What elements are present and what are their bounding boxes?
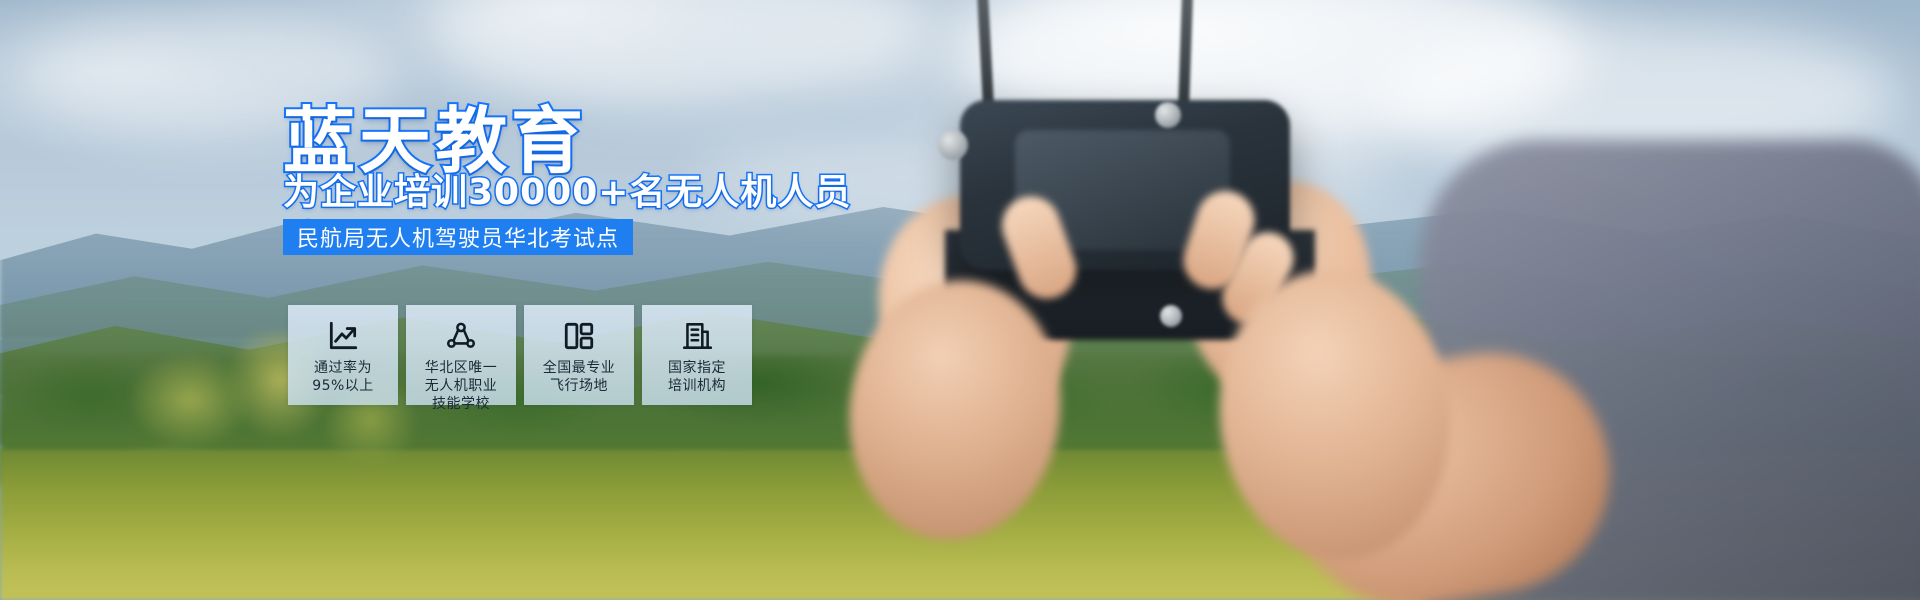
feature-card-text: 国家指定 培训机构 — [668, 359, 726, 395]
building-institution-icon — [680, 319, 714, 353]
trending-up-chart-icon — [326, 319, 360, 353]
feature-card-state-approved[interactable]: 国家指定 培训机构 — [642, 305, 752, 405]
feature-card-text: 华北区唯一 无人机职业 技能学校 — [425, 359, 498, 413]
certification-badge: 民航局无人机驾驶员华北考试点 — [283, 219, 633, 255]
hero-banner: 蓝天教育 为企业培训30000+名无人机人员 民航局无人机驾驶员华北考试点 通过… — [0, 0, 1920, 600]
feature-card-line: 全国最专业 — [543, 359, 616, 377]
feature-card-line: 华北区唯一 — [425, 359, 498, 377]
feature-card-line: 无人机职业 — [425, 377, 498, 395]
feature-card-pass-rate[interactable]: 通过率为 95%以上 — [288, 305, 398, 405]
feature-card-line: 飞行场地 — [543, 377, 616, 395]
banner-content: 蓝天教育 为企业培训30000+名无人机人员 民航局无人机驾驶员华北考试点 通过… — [0, 0, 1920, 600]
layout-panels-icon — [562, 319, 596, 353]
feature-card-text: 全国最专业 飞行场地 — [543, 359, 616, 395]
feature-card-line: 95%以上 — [312, 377, 374, 395]
feature-card-line: 技能学校 — [425, 395, 498, 413]
feature-card-list: 通过率为 95%以上 华北区唯一 无人 — [288, 305, 752, 405]
feature-card-line: 国家指定 — [668, 359, 726, 377]
feature-card-line: 培训机构 — [668, 377, 726, 395]
network-nodes-icon — [444, 319, 478, 353]
feature-card-text: 通过率为 95%以上 — [312, 359, 374, 395]
banner-subtitle: 为企业培训30000+名无人机人员 — [283, 163, 851, 215]
feature-card-flight-field[interactable]: 全国最专业 飞行场地 — [524, 305, 634, 405]
feature-card-line: 通过率为 — [312, 359, 374, 377]
feature-card-only-school[interactable]: 华北区唯一 无人机职业 技能学校 — [406, 305, 516, 405]
